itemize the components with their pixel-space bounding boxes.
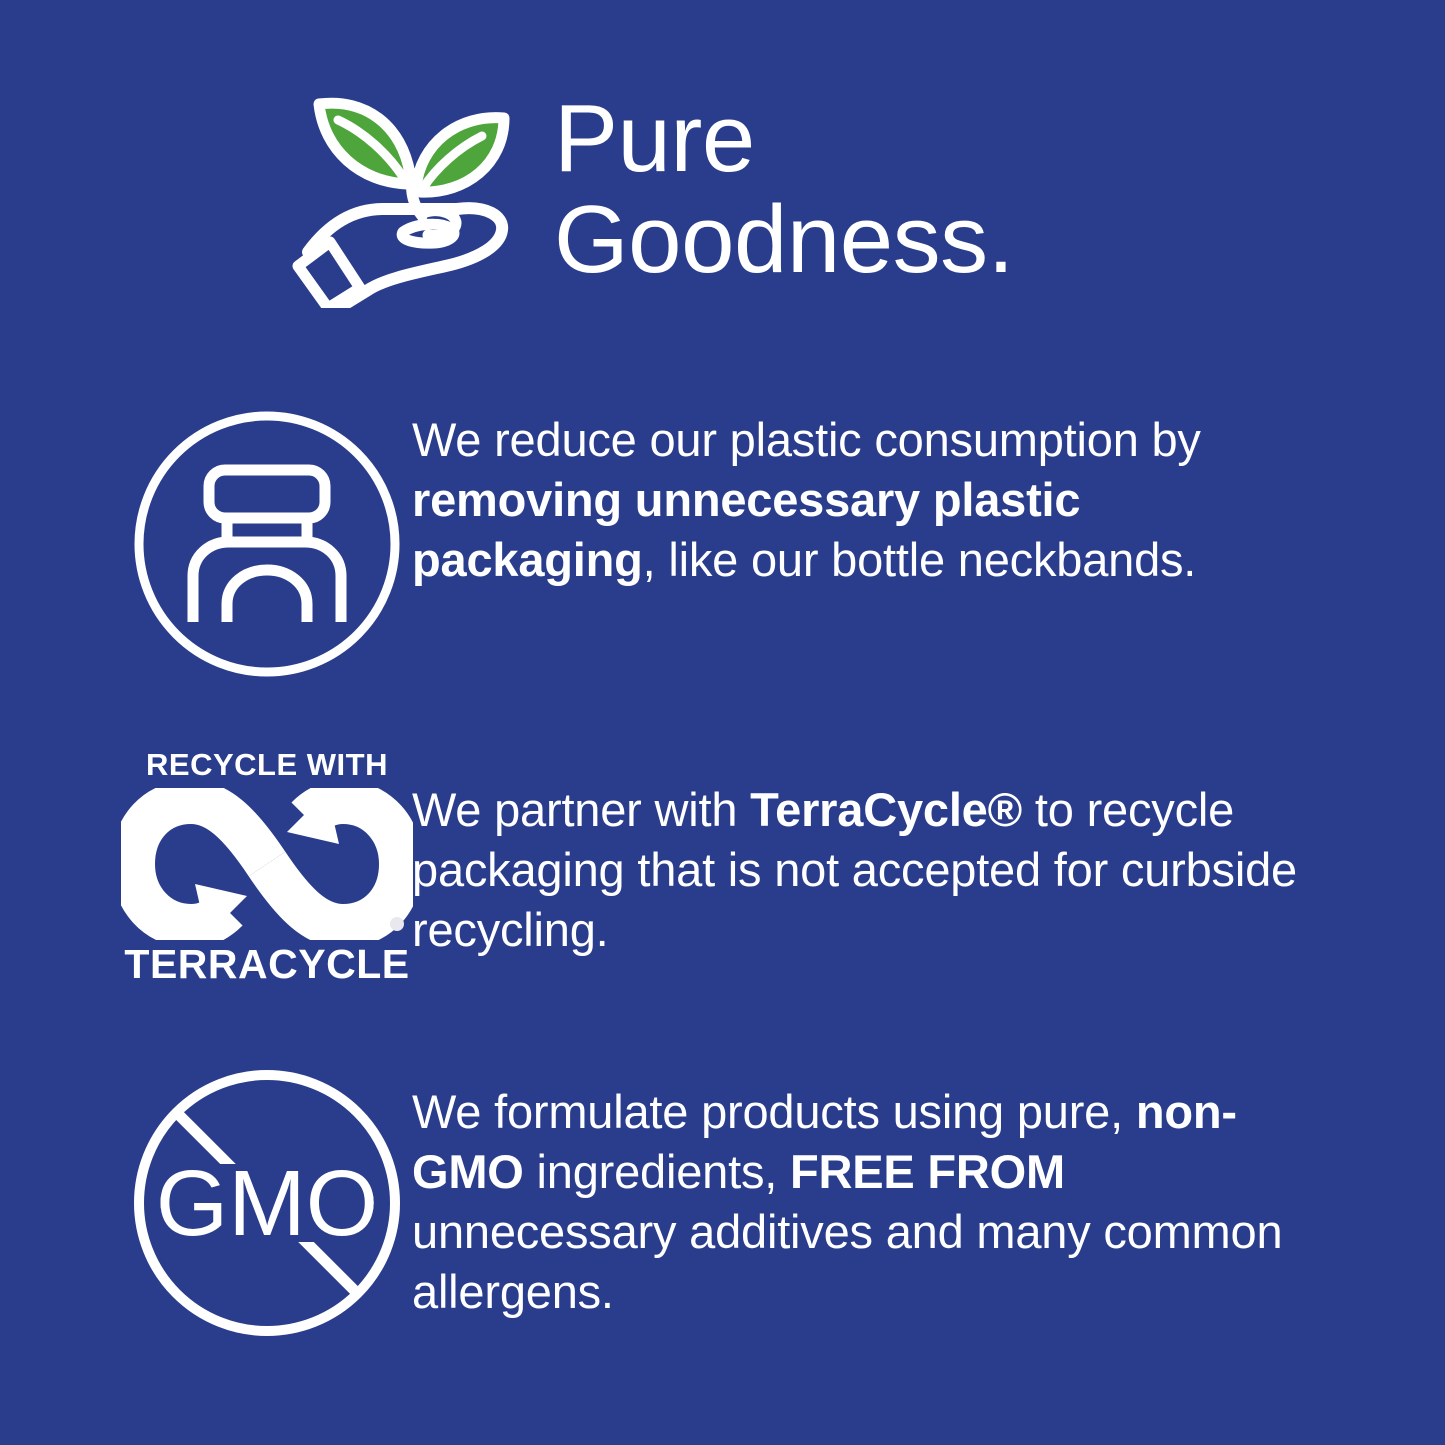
bottle-no-neckband-icon — [131, 408, 403, 680]
feature-icon-slot: GMO GMO — [122, 1060, 412, 1346]
feature-icon-slot — [122, 408, 412, 680]
svg-text:GMO: GMO — [156, 1151, 378, 1255]
brand-lockup: Pure Goodness. — [290, 78, 1014, 308]
text-seg: We formulate products using pure, — [412, 1085, 1136, 1138]
feature-row-gmo: GMO GMO We formulate products using pure… — [122, 1060, 1317, 1346]
terracycle-top-label: RECYCLE WITH — [146, 748, 388, 782]
text-seg: ingredients, — [524, 1145, 790, 1198]
text-seg: unnecessary additives and many common al… — [412, 1205, 1282, 1318]
terracycle-bottom-label: TERRACYCLE — [124, 942, 409, 986]
feature-row-plastic: We reduce our plastic consumption by rem… — [122, 408, 1317, 680]
terracycle-logo: RECYCLE WITH TERRACYCLE — [122, 748, 412, 986]
no-gmo-icon: GMO GMO — [131, 1060, 403, 1346]
feature-text-plastic: We reduce our plastic consumption by rem… — [412, 408, 1317, 590]
feature-icon-slot: RECYCLE WITH TERRACYCLE — [122, 748, 412, 986]
hand-holding-plant-icon — [290, 82, 526, 308]
text-seg-bold: FREE FROM — [790, 1145, 1065, 1198]
pure-goodness-infographic: Pure Goodness. We reduce our plastic con… — [0, 0, 1445, 1445]
feature-text-terracycle: We partner with TerraCycle® to recycle p… — [412, 748, 1317, 960]
page-title: Pure Goodness. — [554, 78, 1014, 290]
text-seg-bold: TerraCycle® — [750, 783, 1022, 836]
feature-text-gmo: We formulate products using pure, non-GM… — [412, 1060, 1317, 1322]
text-seg: We partner with — [412, 783, 750, 836]
terracycle-infinity-icon — [121, 788, 413, 940]
feature-row-terracycle: RECYCLE WITH TERRACYCLE We partner with — [122, 748, 1317, 986]
text-seg: , like our bottle neckbands. — [643, 533, 1197, 586]
text-seg: We reduce our plastic consumption by — [412, 413, 1201, 466]
